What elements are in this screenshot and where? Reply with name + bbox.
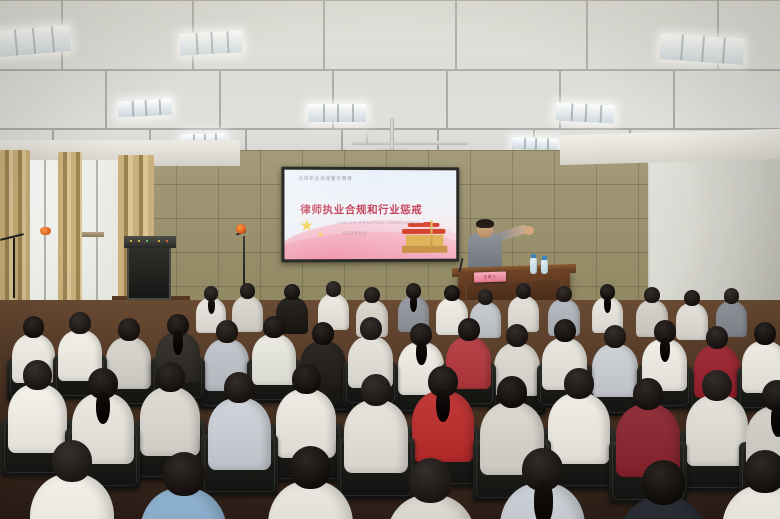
audience-head bbox=[604, 325, 626, 348]
audience-head bbox=[478, 289, 493, 305]
audience-head bbox=[497, 376, 528, 408]
audience-member bbox=[30, 440, 114, 519]
audience-head bbox=[754, 322, 776, 345]
audience-head bbox=[702, 370, 732, 401]
audience-head bbox=[224, 372, 254, 403]
audience-head bbox=[326, 281, 341, 297]
audience-head bbox=[118, 318, 140, 341]
audience-head bbox=[364, 287, 380, 303]
audience-head bbox=[361, 374, 392, 406]
audience-member bbox=[722, 450, 780, 519]
lecture-room-photo: 法律职业道德警示教育 律师执业合规和行业惩戒 LAWYER PRACTICE C… bbox=[0, 0, 780, 519]
audience-head bbox=[554, 319, 576, 342]
audience-member bbox=[500, 448, 585, 519]
audience-head bbox=[564, 368, 594, 399]
ponytail bbox=[534, 481, 553, 519]
audience-head bbox=[23, 360, 52, 390]
audience-head bbox=[444, 285, 460, 301]
audience-head bbox=[516, 283, 531, 299]
audience-head bbox=[706, 326, 728, 349]
audience-head bbox=[216, 320, 238, 343]
audience-member bbox=[140, 362, 200, 462]
audience-head bbox=[69, 312, 90, 334]
audience-head bbox=[284, 284, 300, 300]
audience-head bbox=[724, 288, 739, 304]
ponytail bbox=[96, 392, 110, 424]
audience-head bbox=[240, 283, 255, 299]
ponytail bbox=[208, 298, 215, 314]
ponytail bbox=[416, 341, 426, 365]
audience bbox=[0, 0, 780, 519]
audience-head bbox=[312, 322, 334, 345]
audience-head bbox=[156, 362, 185, 392]
audience-head bbox=[360, 317, 382, 340]
audience-head bbox=[506, 324, 528, 347]
audience-head bbox=[290, 446, 331, 489]
audience-member bbox=[140, 452, 227, 519]
ponytail bbox=[173, 331, 183, 354]
audience-head bbox=[458, 318, 480, 341]
ponytail bbox=[436, 390, 450, 422]
audience-member bbox=[386, 458, 476, 519]
audience-head bbox=[556, 286, 572, 302]
audience-head bbox=[263, 316, 284, 338]
ponytail bbox=[660, 338, 670, 362]
audience-head bbox=[409, 458, 452, 503]
audience-head bbox=[23, 316, 44, 338]
audience-head bbox=[684, 290, 700, 306]
audience-member bbox=[618, 460, 709, 519]
audience-head bbox=[292, 364, 321, 394]
audience-head bbox=[744, 450, 780, 493]
audience-head bbox=[644, 287, 660, 303]
audience-member bbox=[412, 366, 474, 467]
audience-torso bbox=[140, 387, 200, 456]
audience-head bbox=[52, 440, 92, 482]
audience-head bbox=[163, 452, 205, 496]
audience-head bbox=[633, 378, 664, 410]
audience-head bbox=[642, 460, 686, 505]
audience-member bbox=[268, 446, 353, 519]
